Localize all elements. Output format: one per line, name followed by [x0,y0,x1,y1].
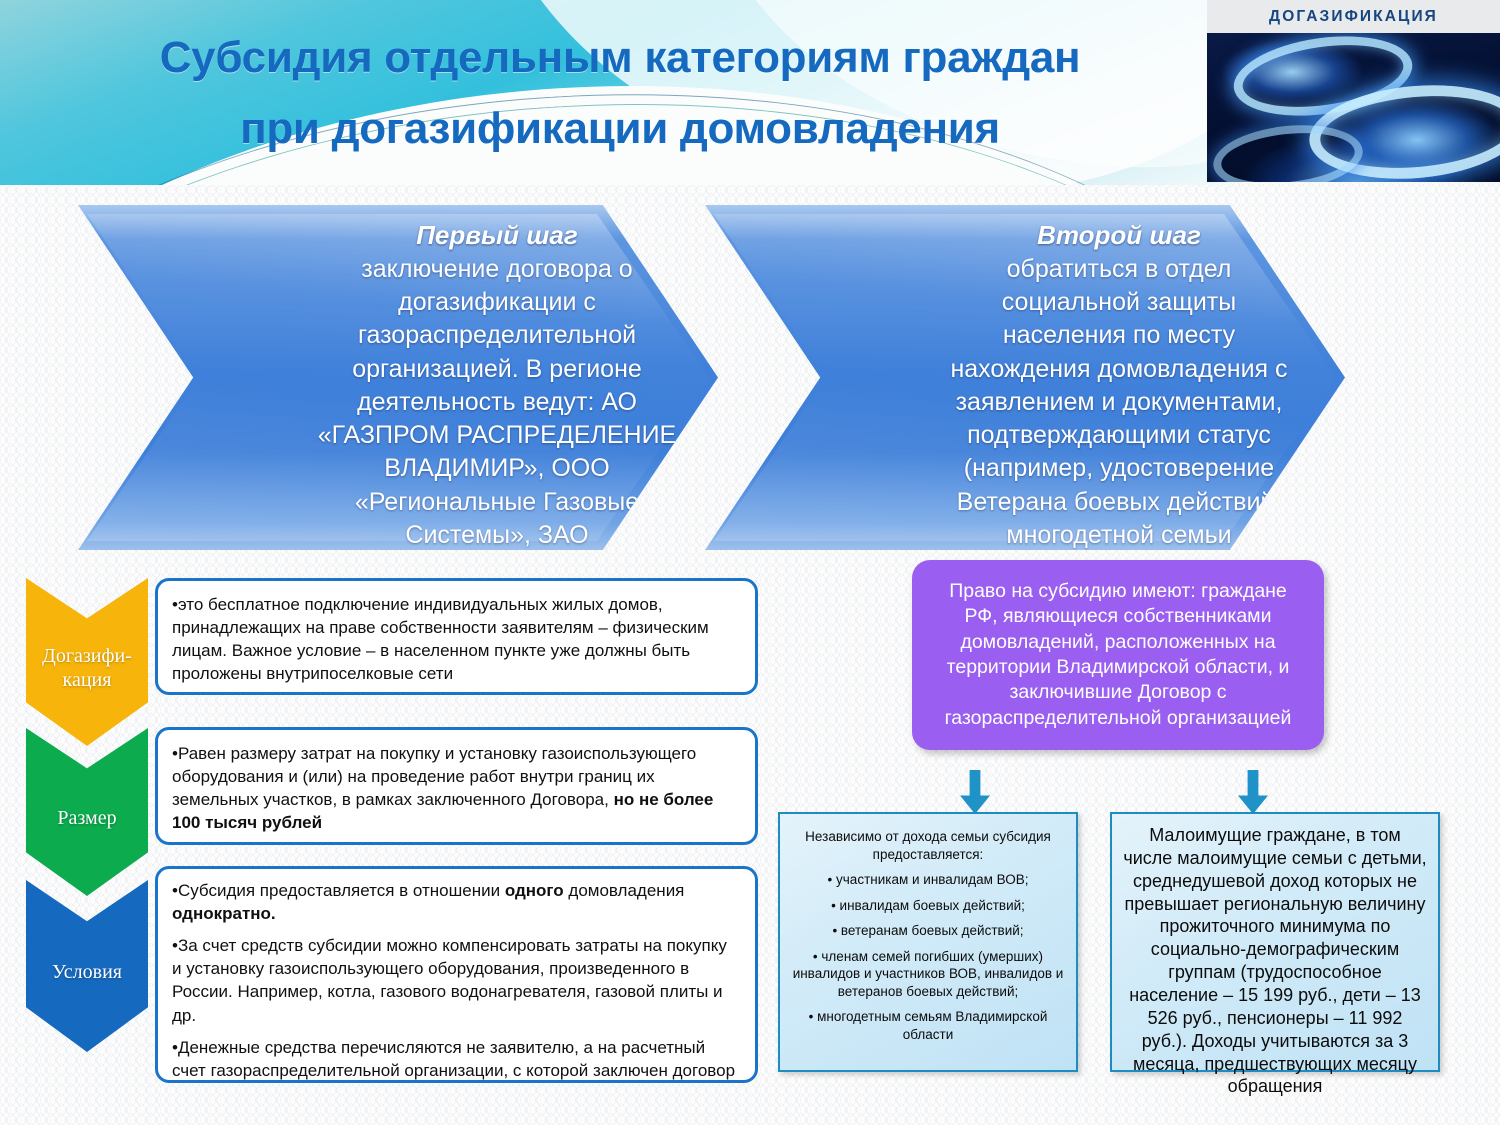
independent-item-4: • членам семей погибших (умерших) инвали… [792,948,1064,1001]
usloviya-b1-bold2: однократно. [172,904,276,923]
usloviya-bullet-1: •Субсидия предоставляется в отношении од… [172,879,739,925]
dogazifikaciya-badge-label: ДОГАЗИФИКАЦИЯ [1269,8,1438,26]
eligibility-box: Право на субсидию имеют: граждане РФ, яв… [912,560,1324,750]
down-arrow-usloviya-label: Условия [52,947,122,985]
text-box-dogazifikaciya: •это бесплатное подключение индивидуальн… [155,578,758,695]
page-title-line-2: при догазификации домовладения [55,93,1185,164]
page-title-line-1: Субсидия отдельным категориям граждан [55,22,1185,93]
text-box-usloviya: •Субсидия предоставляется в отношении од… [155,866,758,1083]
usloviya-bullet-2: •За счет средств субсидии можно компенси… [172,934,739,1026]
independent-item-1: • участникам и инвалидам ВОВ; [792,871,1064,889]
gas-stove-photo: ДОГАЗИФИКАЦИЯ [1207,0,1500,182]
category-box-independent-income: Независимо от дохода семьи субсидия пред… [778,812,1078,1072]
dogazifikaciya-badge: ДОГАЗИФИКАЦИЯ [1207,0,1500,33]
down-arrow-razmer-label: Размер [57,793,116,831]
razmer-text: •Равен размеру затрат на покупку и устан… [172,742,739,834]
low-income-text: Малоимущие граждане, в том числе малоиму… [1123,824,1427,1098]
text-box-razmer: •Равен размеру затрат на покупку и устан… [155,727,758,845]
header-banner: Субсидия отдельным категориям граждан пр… [0,0,1500,185]
independent-item-5: • многодетным семьям Владимирской област… [792,1008,1064,1043]
independent-item-2: • инвалидам боевых действий; [792,897,1064,915]
page-title: Субсидия отдельным категориям граждан пр… [55,22,1185,165]
category-box-low-income: Малоимущие граждане, в том числе малоиму… [1110,812,1440,1072]
dogazifikaciya-text: •это бесплатное подключение индивидуальн… [172,593,739,685]
usloviya-b1-pre: •Субсидия предоставляется в отношении [172,881,505,900]
usloviya-b1-mid: домовладения [564,881,685,900]
down-arrow-dogazifikaciya-label: Догазифи-кация [42,631,132,692]
independent-intro: Независимо от дохода семьи субсидия пред… [792,828,1064,863]
usloviya-b1-bold1: одного [505,881,564,900]
eligibility-text: Право на субсидию имеют: граждане РФ, яв… [934,579,1302,731]
usloviya-bullet-3: •Денежные средства перечисляются не заяв… [172,1036,739,1082]
independent-item-3: • ветеранам боевых действий; [792,922,1064,940]
step-2-title: Второй шаг [945,219,1293,253]
